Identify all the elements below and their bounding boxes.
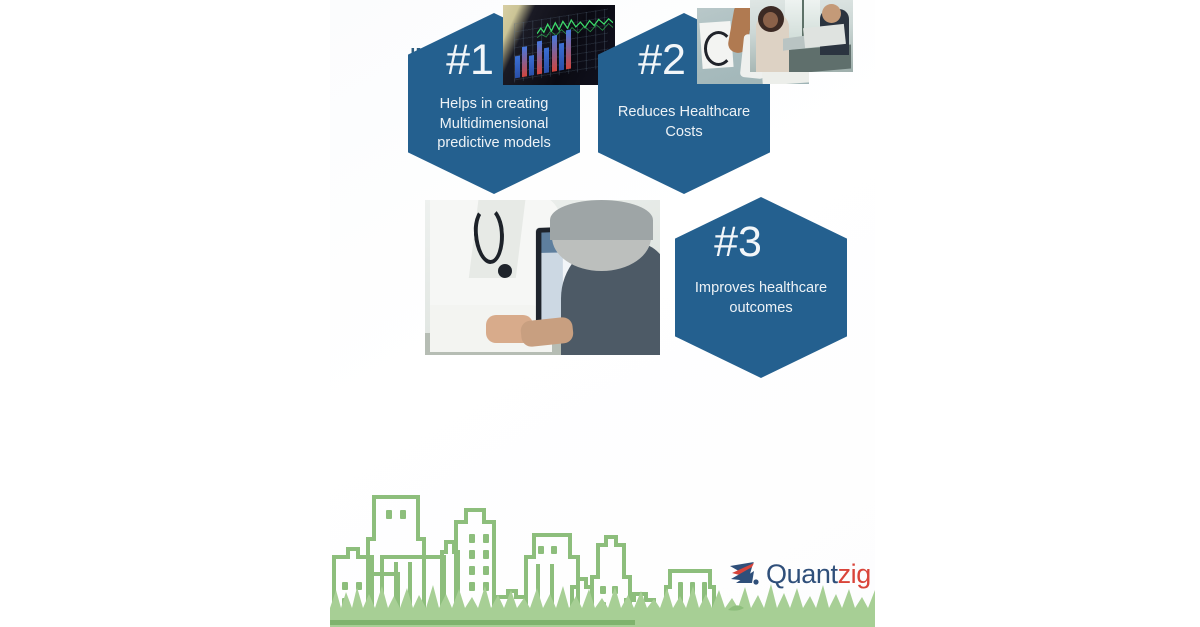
step-number-3: #3 [675, 221, 847, 264]
step-text-2: Reduces Healthcare Costs [598, 103, 770, 142]
step-text-3: Improves healthcare outcomes [675, 279, 847, 318]
content-card: IMPORTANCE OF HEALTHCARE ANALYTICS #1 He… [330, 0, 875, 627]
infographic-canvas: IMPORTANCE OF HEALTHCARE ANALYTICS #1 He… [0, 0, 1200, 627]
doctor-showing-tablet-to-patient-photo [425, 200, 660, 355]
brand-logo[interactable]: Quantzig [728, 557, 873, 597]
green-city-skyline-illustration [330, 482, 875, 627]
brand-name-accent: zig [838, 559, 871, 589]
step-card-3[interactable]: #3 Improves healthcare outcomes [675, 197, 847, 378]
brand-name-primary: Quant [766, 559, 838, 589]
quantzig-arrow-mark [728, 561, 764, 591]
two-people-meeting-photo [750, 0, 853, 72]
step-text-1: Helps in creating Multidimensional predi… [408, 95, 580, 154]
brand-logo-text: Quantzig [766, 559, 871, 590]
